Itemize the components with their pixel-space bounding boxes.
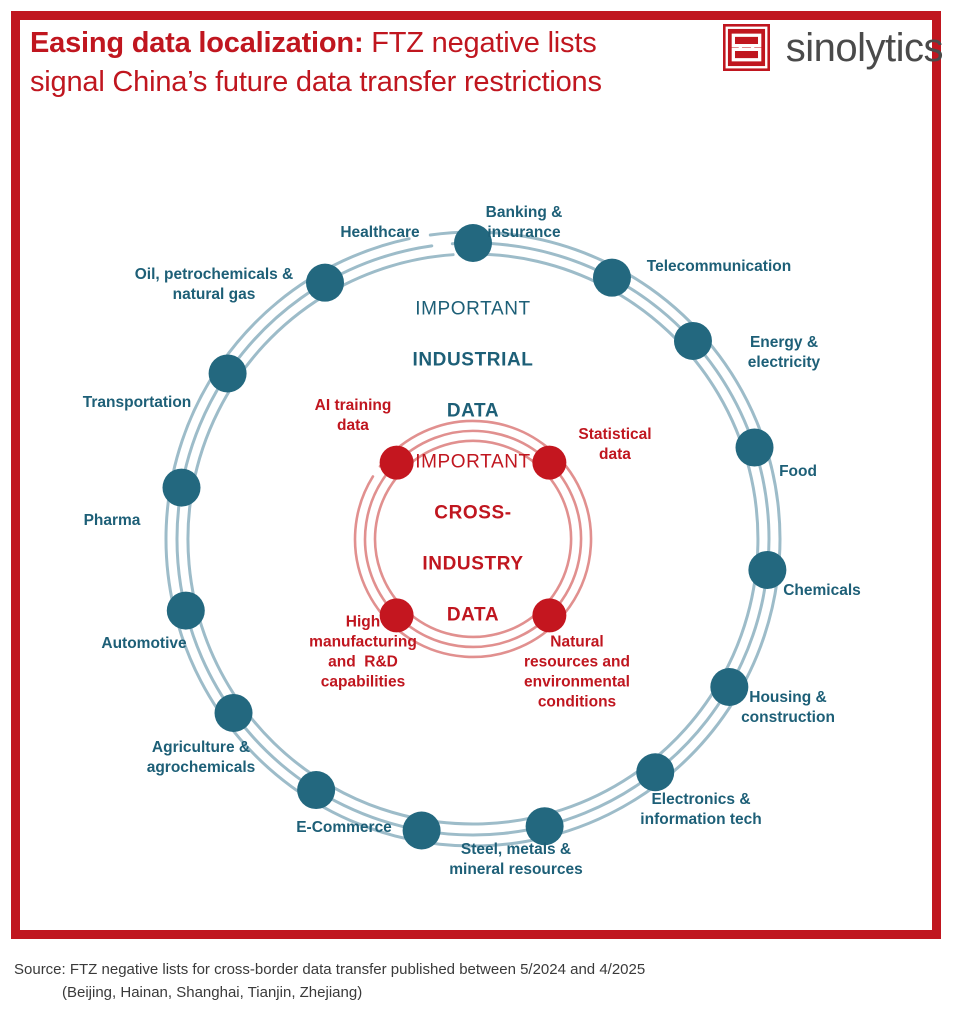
outer-node-10[interactable]: [297, 771, 335, 809]
concentric-ring-diagram: IMPORTANT INDUSTRIAL DATA IMPORTANT CROS…: [11, 150, 941, 930]
inner-ring-center-label: IMPORTANT CROSS- INDUSTRY DATA: [415, 424, 531, 655]
outer-node-9[interactable]: [403, 812, 441, 850]
outer-node-14[interactable]: [209, 354, 247, 392]
header: Easing data localization: FTZ negative l…: [0, 0, 961, 140]
inner-ring-label-line3: INDUSTRY: [415, 552, 531, 578]
inner-node-label-3: Natural resources and environmental cond…: [524, 633, 630, 714]
inner-node-label-4: High manufacturing and R&D capabilities: [309, 613, 417, 694]
outer-ring-label-line2: INDUSTRIAL: [412, 347, 533, 373]
source-note: Source: FTZ negative lists for cross-bor…: [14, 958, 914, 1005]
brand-logo: sinolytics: [723, 24, 943, 71]
outer-node-label-15: Healthcare: [340, 223, 419, 243]
source-line-1: Source: FTZ negative lists for cross-bor…: [14, 961, 645, 978]
page-title-bold: Easing data localization:: [30, 27, 363, 59]
outer-node-label-9: E-Commerce: [296, 818, 392, 838]
outer-node-label-6: Housing & construction: [741, 688, 835, 728]
sinolytics-square-s-logo-icon: [723, 24, 770, 71]
outer-node-label-10: Agriculture & agrochemicals: [147, 738, 256, 778]
outer-node-5[interactable]: [748, 551, 786, 589]
inner-node-label-2: Statistical data: [578, 425, 651, 465]
outer-node-label-13: Transportation: [83, 393, 192, 413]
inner-node-2[interactable]: [532, 446, 566, 480]
outer-node-label-3: Energy & electricity: [748, 333, 820, 373]
outer-node-3[interactable]: [674, 322, 712, 360]
brand-wordmark: sinolytics: [786, 28, 943, 68]
outer-node-label-8: Steel, metals & mineral resources: [449, 840, 583, 880]
outer-node-label-1: Banking & insurance: [486, 203, 563, 243]
outer-ring-label-line1: IMPORTANT: [412, 296, 533, 322]
outer-node-label-14: Oil, petrochemicals & natural gas: [135, 265, 294, 305]
outer-node-label-7: Electronics & information tech: [640, 790, 761, 830]
outer-node-12[interactable]: [167, 592, 205, 630]
outer-node-label-2: Telecommunication: [647, 257, 791, 277]
inner-ring-label-line1: IMPORTANT: [415, 449, 531, 475]
page-title: Easing data localization: FTZ negative l…: [30, 24, 650, 101]
outer-node-label-11: Automotive: [101, 634, 186, 654]
source-line-2: (Beijing, Hainan, Shanghai, Tianjin, Zhe…: [14, 981, 914, 1004]
outer-ring-label-line3: DATA: [412, 398, 533, 424]
outer-node-11[interactable]: [215, 694, 253, 732]
outer-node-label-4: Food: [779, 462, 817, 482]
inner-ring-label-line4: DATA: [415, 603, 531, 629]
outer-node-label-5: Chemicals: [783, 581, 861, 601]
outer-node-7[interactable]: [636, 753, 674, 791]
inner-node-1[interactable]: [380, 446, 414, 480]
outer-node-15[interactable]: [306, 264, 344, 302]
outer-node-label-12: Pharma: [84, 511, 141, 531]
inner-node-3[interactable]: [532, 598, 566, 632]
infographic-poster: Easing data localization: FTZ negative l…: [0, 0, 961, 1031]
outer-node-13[interactable]: [163, 469, 201, 507]
outer-node-2[interactable]: [593, 259, 631, 297]
outer-node-4[interactable]: [736, 429, 774, 467]
inner-ring-label-line2: CROSS-: [415, 501, 531, 527]
inner-node-label-1: AI training data: [315, 396, 392, 436]
